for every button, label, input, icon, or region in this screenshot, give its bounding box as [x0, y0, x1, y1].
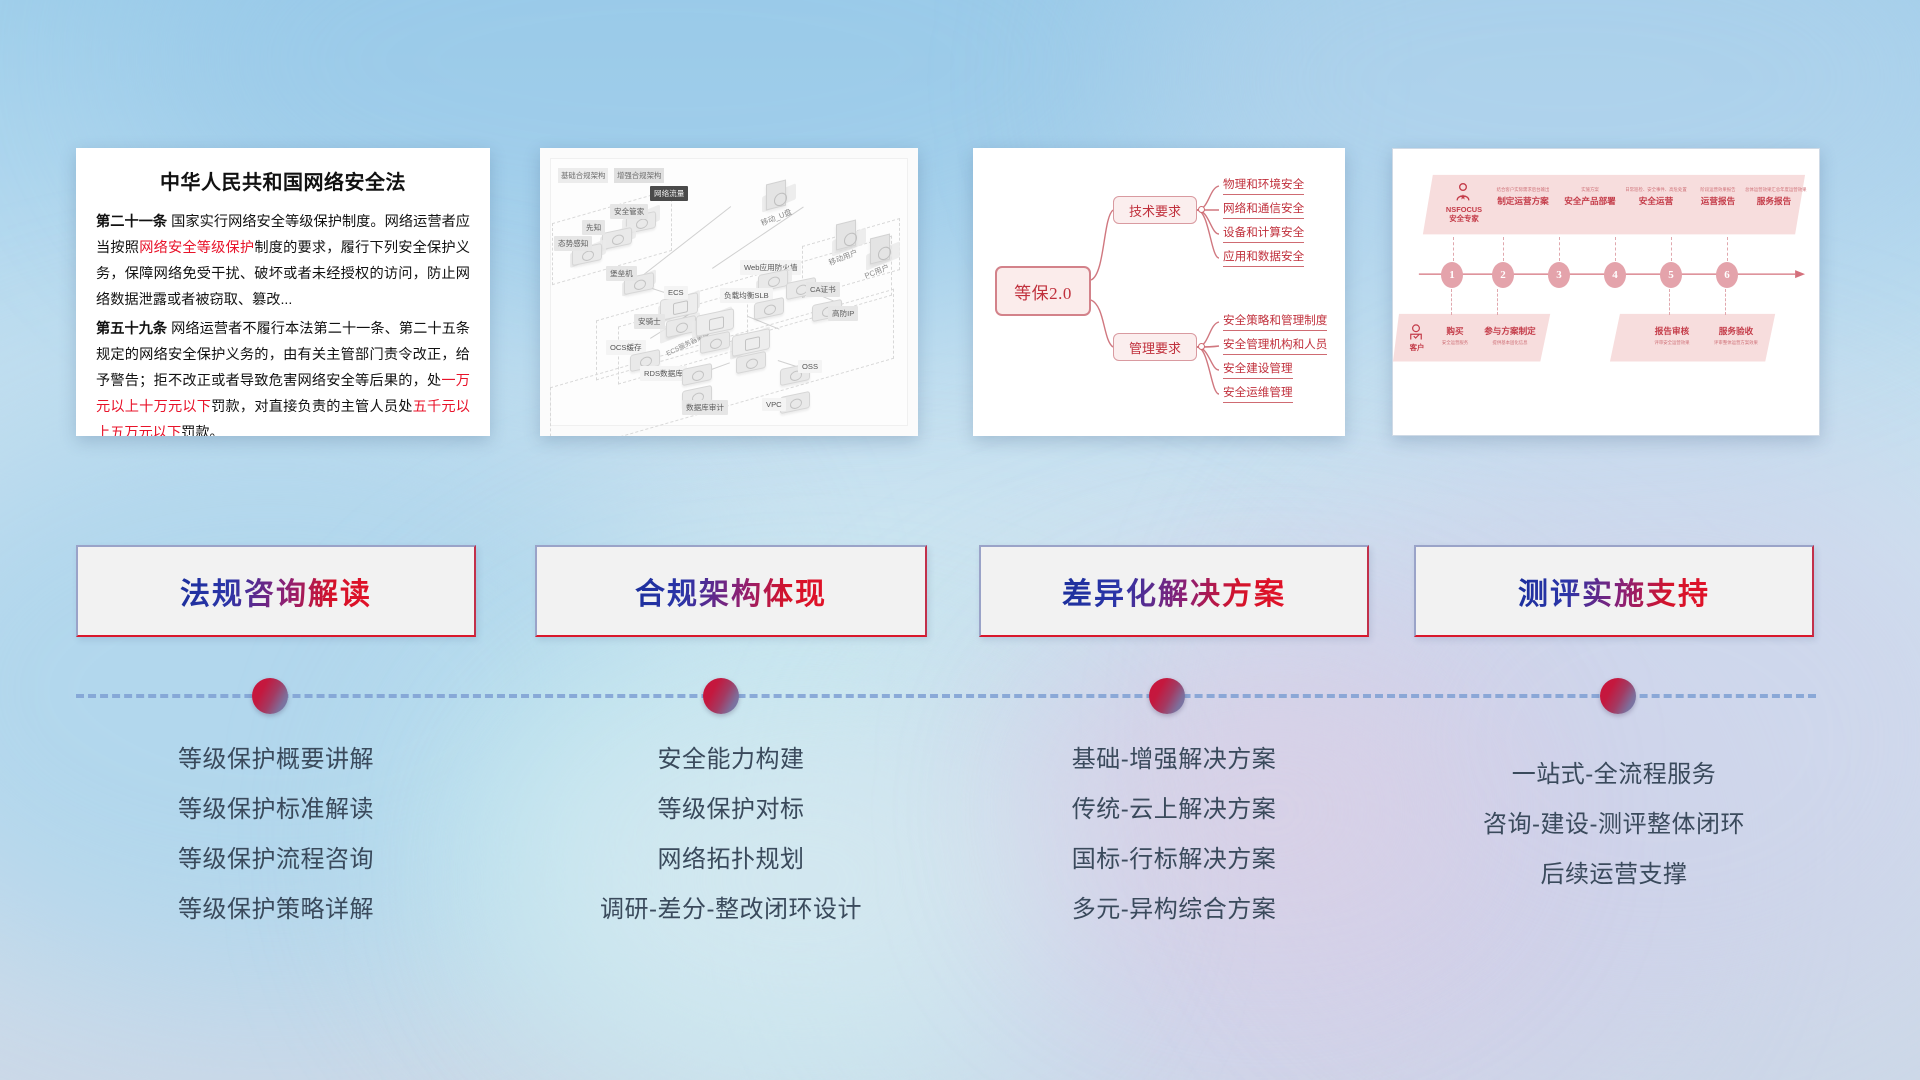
- roadmap-customer-step: 服务验收 评审整体运营方案效果: [1703, 325, 1769, 348]
- timeline-dot[interactable]: [252, 678, 288, 714]
- roadmap-step-sub: 结合客户实际需求后台输出: [1489, 187, 1557, 193]
- law-title: 中华人民共和国网络安全法: [96, 166, 470, 195]
- detail-list-differentiated-solution: 基础-增强解决方案 传统-云上解决方案 国标-行标解决方案 多元-异构综合方案: [979, 735, 1369, 935]
- timeline-dashed-line: [76, 694, 1816, 698]
- list-item: 等级保护流程咨询: [76, 835, 476, 885]
- roadmap-step-sub: 实施方案: [1557, 187, 1623, 193]
- roadmap-leader: [1559, 237, 1560, 261]
- law-article-number: 第二十一条: [96, 214, 167, 230]
- roadmap-customer-step: 报告审核 评审安全运营效果: [1641, 325, 1703, 348]
- list-item: 基础-增强解决方案: [979, 735, 1369, 785]
- architecture-node-ca: CA证书: [806, 282, 840, 297]
- architecture-node-bastion: 堡垒机: [606, 266, 637, 281]
- list-item: 网络拓扑规划: [535, 835, 927, 885]
- detail-list-assessment-support: 一站式-全流程服务 咨询-建设-测评整体闭环 后续运营支撑: [1414, 735, 1814, 900]
- list-item: 调研-差分-整改闭环设计: [535, 885, 927, 935]
- heading-label: 法规咨询解读: [180, 569, 372, 613]
- architecture-node-traffic: 网络流量: [650, 186, 688, 201]
- person-check-icon: [1407, 321, 1425, 343]
- roadmap-step-sub: 日常巡检、安全事件、高危处置: [1623, 187, 1689, 193]
- roadmap-leader: [1725, 289, 1726, 315]
- roadmap-step-main: 安全运营: [1623, 195, 1689, 207]
- heading-label: 合规架构体现: [635, 569, 827, 613]
- roadmap-step-main: 参与方案制定: [1477, 325, 1543, 337]
- svg-text:★: ★: [1460, 193, 1467, 202]
- heading-box-compliance-architecture[interactable]: 合规架构体现: [535, 545, 927, 637]
- roadmap-step-main: 安全产品部署: [1557, 195, 1623, 207]
- mind-map: 等保2.0 技术要求 物理和环境安全 网络和通信安全 设备和计算安全 应用和数据…: [973, 148, 1345, 436]
- list-item: 多元-异构综合方案: [979, 885, 1369, 935]
- roadmap-leader: [1497, 289, 1498, 315]
- detail-list-compliance-architecture: 安全能力构建 等级保护对标 网络拓扑规划 调研-差分-整改闭环设计: [535, 735, 927, 935]
- law-article-number: 第五十九条: [96, 321, 167, 337]
- list-item: 咨询-建设-测评整体闭环: [1414, 800, 1814, 850]
- heading-box-regulation-consulting[interactable]: 法规咨询解读: [76, 545, 476, 637]
- list-item: 等级保护概要讲解: [76, 735, 476, 785]
- roadmap-step-number[interactable]: 1: [1441, 262, 1463, 288]
- mind-map-collapse-icon[interactable]: [1198, 343, 1205, 350]
- timeline-dot[interactable]: [703, 678, 739, 714]
- architecture-node-vpc: VPC: [762, 398, 786, 411]
- card-law-document[interactable]: 中华人民共和国网络安全法 第二十一条 国家实行网络安全等级保护制度。网络运营者应…: [76, 148, 490, 436]
- law-document-body: 中华人民共和国网络安全法 第二十一条 国家实行网络安全等级保护制度。网络运营者应…: [76, 148, 490, 436]
- card-service-roadmap[interactable]: NSFOCUS安全专家 ★ 结合客户实际需求后台输出 制定运营方案 实施方案 安…: [1392, 148, 1820, 436]
- detail-lists: 等级保护概要讲解 等级保护标准解读 等级保护流程咨询 等级保护策略详解 安全能力…: [0, 735, 1920, 1035]
- mind-map-leaf: 安全运维管理: [1223, 384, 1293, 403]
- roadmap-step-sub: 安全运营服务: [1433, 340, 1477, 346]
- architecture-node-antiddos: 高防IP: [828, 306, 858, 321]
- roadmap-step-number[interactable]: 5: [1660, 262, 1682, 288]
- architecture-node-ecs: ECS: [664, 286, 688, 299]
- roadmap-leader: [1453, 237, 1454, 261]
- mind-map-leaf: 安全策略和管理制度: [1223, 312, 1327, 331]
- mind-map-leaf: 网络和通信安全: [1223, 200, 1304, 219]
- card-row: 中华人民共和国网络安全法 第二十一条 国家实行网络安全等级保护制度。网络运营者应…: [0, 148, 1920, 443]
- list-item: 等级保护对标: [535, 785, 927, 835]
- roadmap-step-number[interactable]: 4: [1604, 262, 1626, 288]
- timeline-dot[interactable]: [1600, 678, 1636, 714]
- roadmap-step-main: 运营报告: [1689, 195, 1747, 207]
- roadmap-step-number[interactable]: 2: [1492, 262, 1514, 288]
- roadmap-leader: [1669, 289, 1670, 315]
- architecture-tab-basic[interactable]: 基础合规架构: [558, 168, 608, 183]
- roadmap-step-sub: 评审安全运营效果: [1641, 340, 1703, 346]
- slide-canvas: 中华人民共和国网络安全法 第二十一条 国家实行网络安全等级保护制度。网络运营者应…: [0, 0, 1920, 1080]
- roadmap-customer-label: 客户: [1403, 343, 1431, 352]
- mind-map-leaf: 安全建设管理: [1223, 360, 1293, 379]
- law-text: 罚款。: [181, 425, 224, 436]
- roadmap-step-main: 报告审核: [1641, 325, 1703, 337]
- mind-map-leaf: 应用和数据安全: [1223, 248, 1304, 267]
- roadmap-leader: [1727, 237, 1728, 261]
- mind-map-branch-technical: 技术要求: [1113, 196, 1197, 224]
- mind-map-leaf: 设备和计算安全: [1223, 224, 1304, 243]
- roadmap-customer-step: 参与方案制定 提供基本固化信息: [1477, 325, 1543, 348]
- heading-row: 法规咨询解读 合规架构体现 差异化解决方案 测评实施支持: [0, 545, 1920, 641]
- list-item: 传统-云上解决方案: [979, 785, 1369, 835]
- roadmap-step-sub: 阶段运营效果报告: [1689, 187, 1747, 193]
- architecture-node-situation: 态势感知: [554, 236, 592, 251]
- roadmap-step: 总体运营效果汇总年度运营效果 服务报告: [1745, 187, 1803, 207]
- roadmap-step-sub: 提供基本固化信息: [1477, 340, 1543, 346]
- law-text-highlight: 网络安全等级保护: [139, 240, 254, 256]
- heading-label: 差异化解决方案: [1062, 569, 1286, 613]
- roadmap-customer-step: 购买 安全运营服务: [1433, 325, 1477, 348]
- architecture-node-db-audit: 数据库审计: [682, 400, 728, 415]
- timeline: [0, 660, 1920, 720]
- roadmap-step-main: 服务报告: [1745, 195, 1803, 207]
- law-text: 罚款，对直接负责的主管人员处: [211, 399, 412, 415]
- law-paragraph: 第五十九条 网络运营者不履行本法第二十一条、第二十五条规定的网络安全保护义务的，…: [96, 316, 470, 436]
- heading-box-assessment-support[interactable]: 测评实施支持: [1414, 545, 1814, 637]
- roadmap-step-number[interactable]: 3: [1548, 262, 1570, 288]
- list-item: 等级保护标准解读: [76, 785, 476, 835]
- person-star-icon: ★: [1453, 181, 1473, 203]
- law-paragraph: 第二十一条 国家实行网络安全等级保护制度。网络运营者应当按照网络安全等级保护制度…: [96, 209, 470, 313]
- mind-map-root-node: 等保2.0: [995, 266, 1091, 316]
- roadmap-step-main: 购买: [1433, 325, 1477, 337]
- list-item: 安全能力构建: [535, 735, 927, 785]
- architecture-node-anqishi: 安骑士: [634, 314, 665, 329]
- roadmap-step: 日常巡检、安全事件、高危处置 安全运营: [1623, 187, 1689, 207]
- roadmap-step-main: 服务验收: [1703, 325, 1769, 337]
- architecture-diagram: 基础合规架构 增强合规架构 网络流量: [540, 148, 918, 436]
- list-item: 国标-行标解决方案: [979, 835, 1369, 885]
- list-item: 一站式-全流程服务: [1414, 750, 1814, 800]
- roadmap-step: 结合客户实际需求后台输出 制定运营方案: [1489, 187, 1557, 207]
- list-item: 后续运营支撑: [1414, 850, 1814, 900]
- architecture-node-xianzhi: 先知: [582, 220, 605, 235]
- roadmap-step-number[interactable]: 6: [1716, 262, 1738, 288]
- roadmap-step: 阶段运营效果报告 运营报告: [1689, 187, 1747, 207]
- mind-map-branch-management: 管理要求: [1113, 333, 1197, 361]
- architecture-node-rds: RDS数据库: [640, 366, 687, 381]
- mind-map-leaf: 安全管理机构和人员: [1223, 336, 1327, 355]
- roadmap-leader: [1615, 237, 1616, 261]
- architecture-node-oss: OSS: [798, 360, 822, 373]
- roadmap-leader: [1503, 237, 1504, 261]
- roadmap-step-sub: 评审整体运营方案效果: [1703, 340, 1769, 346]
- service-roadmap: NSFOCUS安全专家 ★ 结合客户实际需求后台输出 制定运营方案 实施方案 安…: [1393, 149, 1819, 435]
- roadmap-provider-label: NSFOCUS安全专家: [1441, 205, 1487, 223]
- heading-label: 测评实施支持: [1518, 569, 1710, 613]
- list-item: 等级保护策略详解: [76, 885, 476, 935]
- card-mind-map[interactable]: 等保2.0 技术要求 物理和环境安全 网络和通信安全 设备和计算安全 应用和数据…: [973, 148, 1345, 436]
- timeline-dot[interactable]: [1149, 678, 1185, 714]
- detail-list-regulation-consulting: 等级保护概要讲解 等级保护标准解读 等级保护流程咨询 等级保护策略详解: [76, 735, 476, 935]
- card-cloud-architecture[interactable]: 基础合规架构 增强合规架构 网络流量: [540, 148, 918, 436]
- heading-box-differentiated-solution[interactable]: 差异化解决方案: [979, 545, 1369, 637]
- architecture-node-guard: 安全管家: [610, 204, 648, 219]
- roadmap-step-main: 制定运营方案: [1489, 195, 1557, 207]
- roadmap-leader: [1671, 237, 1672, 261]
- roadmap-step: 实施方案 安全产品部署: [1557, 187, 1623, 207]
- mind-map-leaf: 物理和环境安全: [1223, 176, 1304, 195]
- roadmap-step-sub: 总体运营效果汇总年度运营效果: [1745, 187, 1803, 193]
- mind-map-collapse-icon[interactable]: [1198, 206, 1205, 213]
- roadmap-leader: [1451, 289, 1452, 315]
- architecture-tab-enhanced[interactable]: 增强合规架构: [614, 168, 664, 183]
